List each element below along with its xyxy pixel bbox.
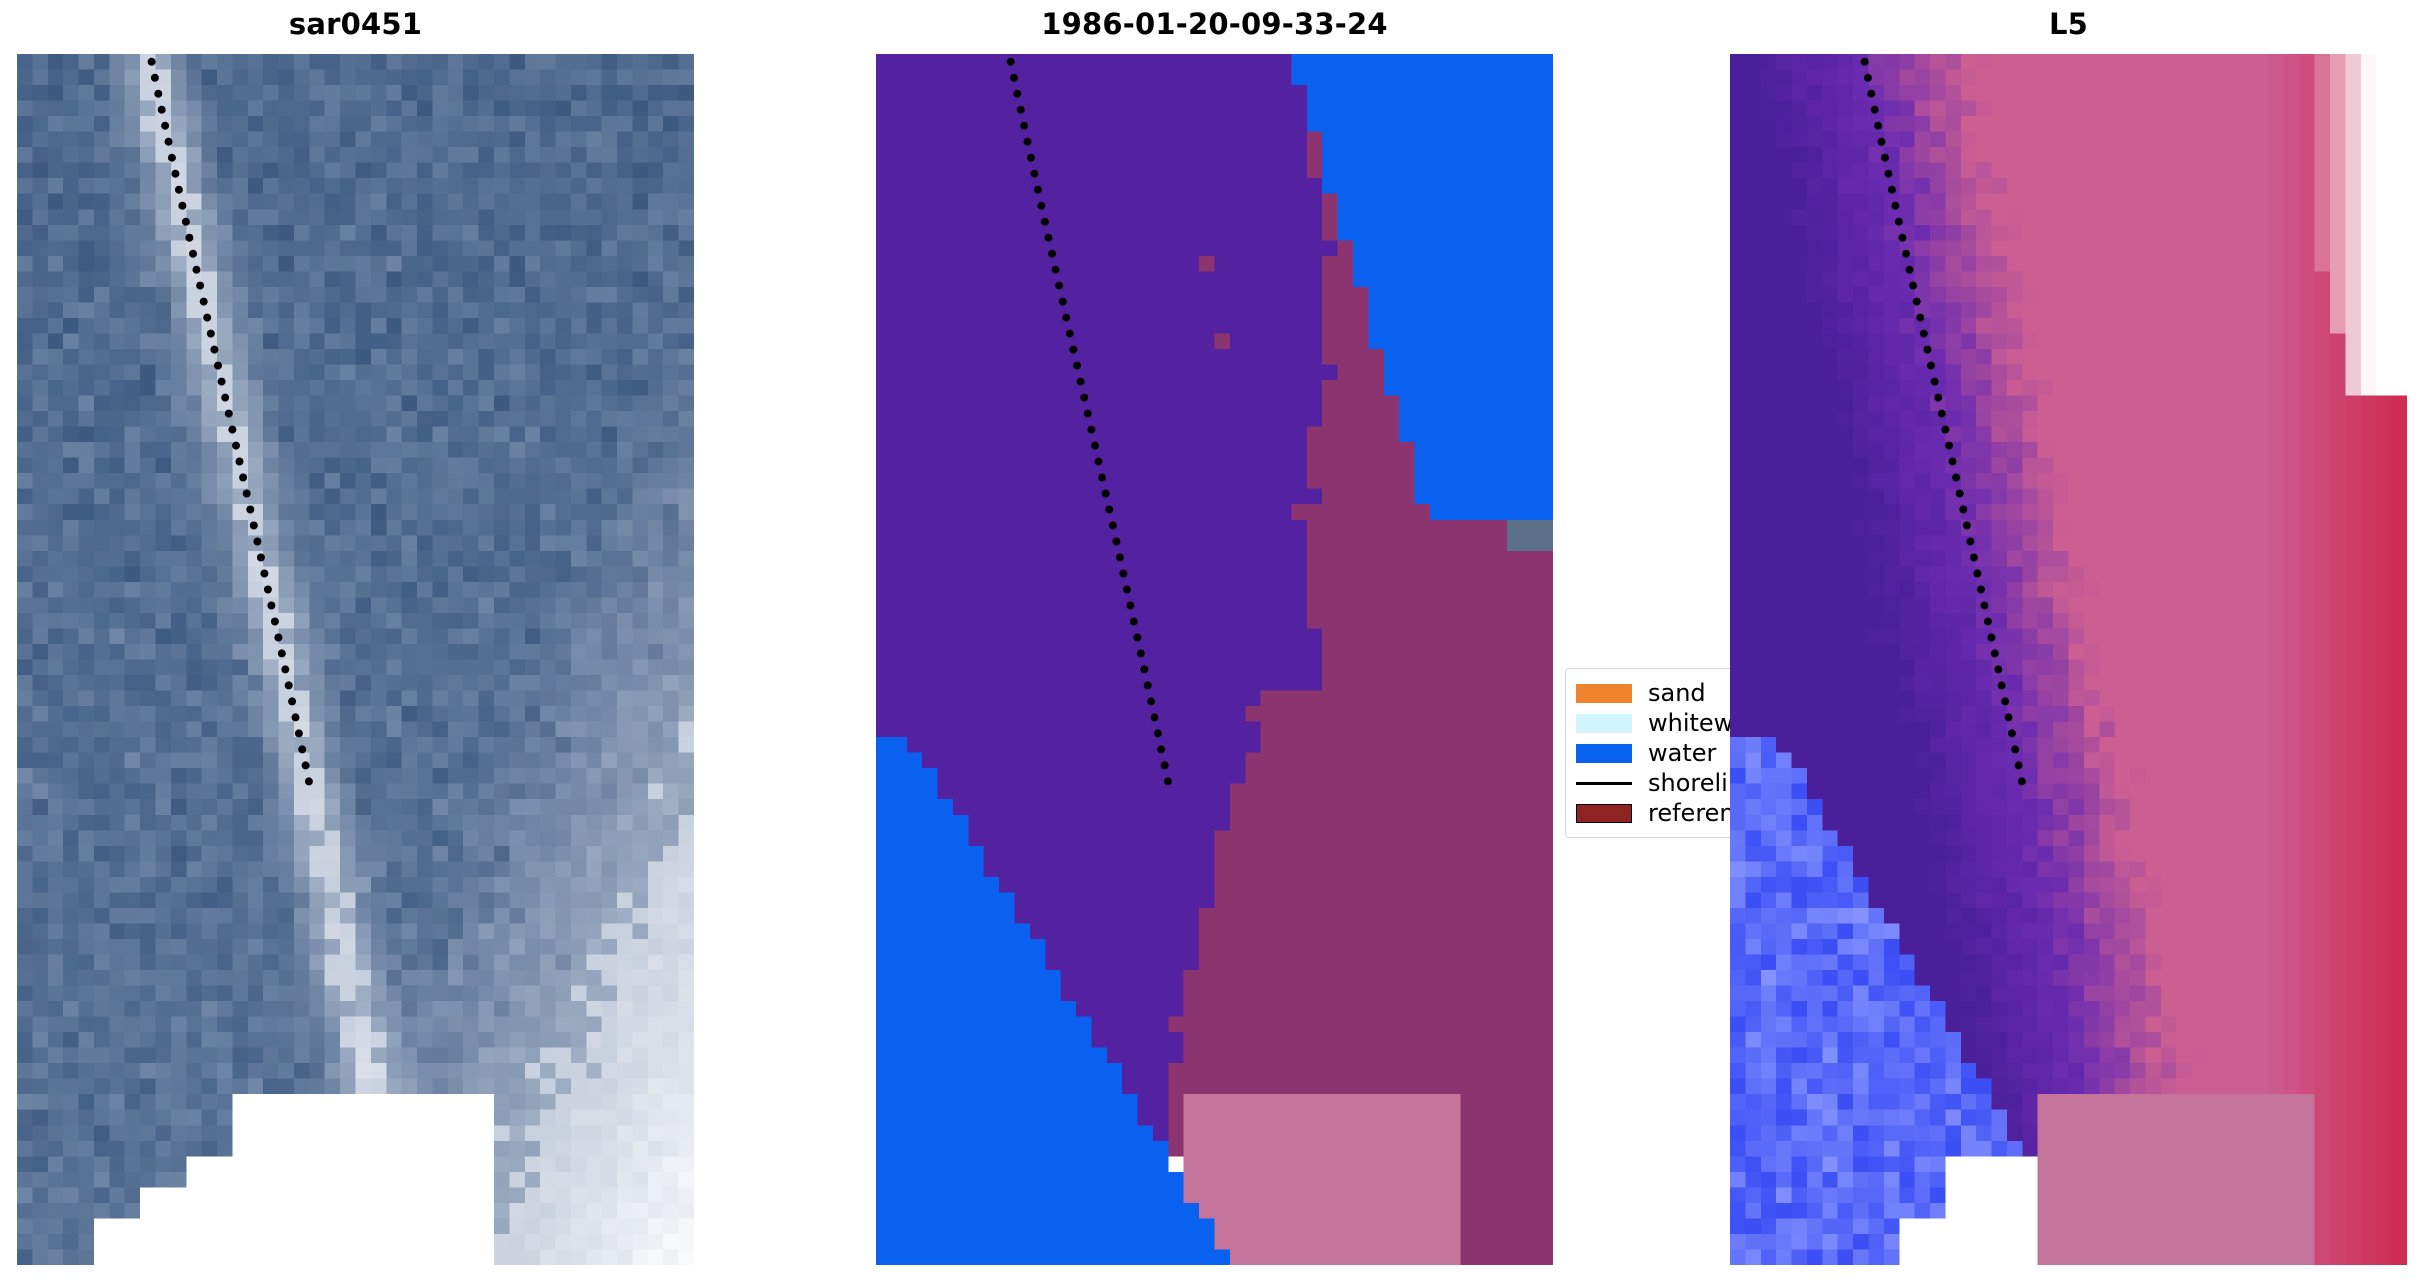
legend-label-water: water: [1648, 741, 1716, 765]
legend-swatch-whitewater-icon: [1576, 714, 1632, 733]
legend-swatch-sand-icon: [1576, 684, 1632, 703]
classification-raster: [876, 54, 1553, 1265]
figure-canvas: sar0451 1986-01-20-09-33-24 L5 sandwhite…: [0, 0, 2424, 1283]
l5-panel[interactable]: [1730, 54, 2407, 1265]
classification-panel[interactable]: [876, 54, 1553, 1265]
sar-raster: [17, 54, 694, 1265]
panel-title-classification: 1986-01-20-09-33-24: [876, 10, 1553, 39]
sar-panel[interactable]: [17, 54, 694, 1265]
legend-swatch-water-icon: [1576, 744, 1632, 763]
l5-raster: [1730, 54, 2407, 1265]
legend-label-sand: sand: [1648, 681, 1706, 705]
panel-title-sar: sar0451: [17, 10, 694, 39]
legend-swatch-reference-icon: [1576, 804, 1632, 823]
panel-title-l5: L5: [1730, 10, 2407, 39]
legend-swatch-shoreline-icon: [1576, 782, 1632, 785]
